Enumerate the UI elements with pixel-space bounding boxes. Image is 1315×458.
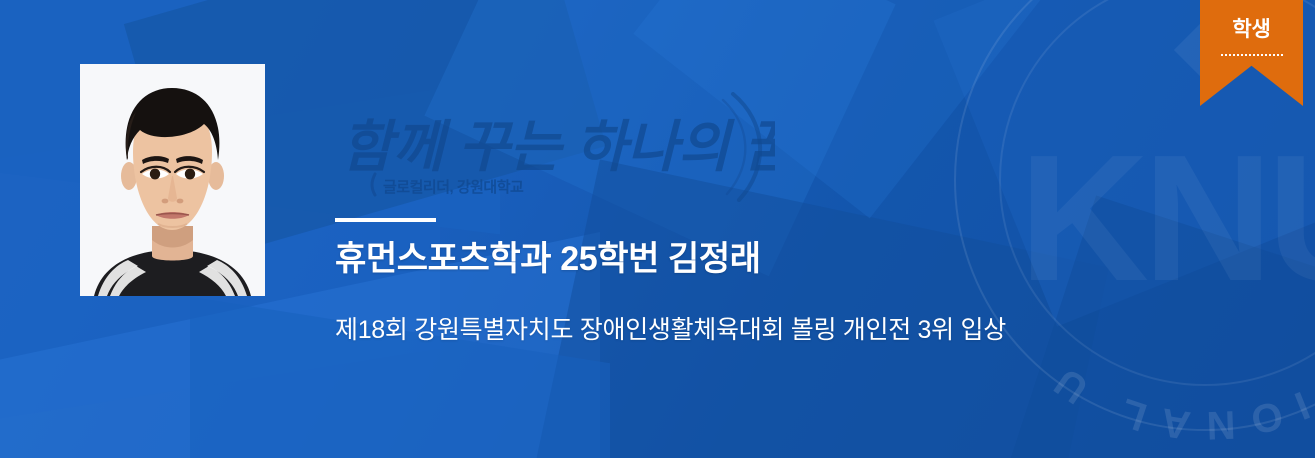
- page-title: 휴먼스포츠학과 25학번 김정래: [335, 238, 761, 281]
- banner-content: 함께 꾸는 하나의 꿈! 글로컬리더, 강원대학교 휴먼스포츠학과 25학번 김…: [335, 0, 1195, 458]
- title-divider: [335, 218, 436, 222]
- student-achievement-banner: KANGWON NATIONAL UNIVERSITY KNU: [0, 0, 1315, 458]
- slogan-sub: 글로컬리더, 강원대학교: [383, 178, 524, 196]
- slogan-main: 함께 꾸는 하나의 꿈!: [341, 117, 775, 179]
- university-slogan: 함께 꾸는 하나의 꿈! 글로컬리더, 강원대학교: [335, 92, 775, 204]
- badge-dotted-divider: [1221, 54, 1283, 56]
- status-badge-label: 학생: [1200, 19, 1303, 40]
- page-subtitle: 제18회 강원특별자치도 장애인생활체육대회 볼링 개인전 3위 입상: [335, 314, 1006, 347]
- student-photo: [80, 64, 265, 296]
